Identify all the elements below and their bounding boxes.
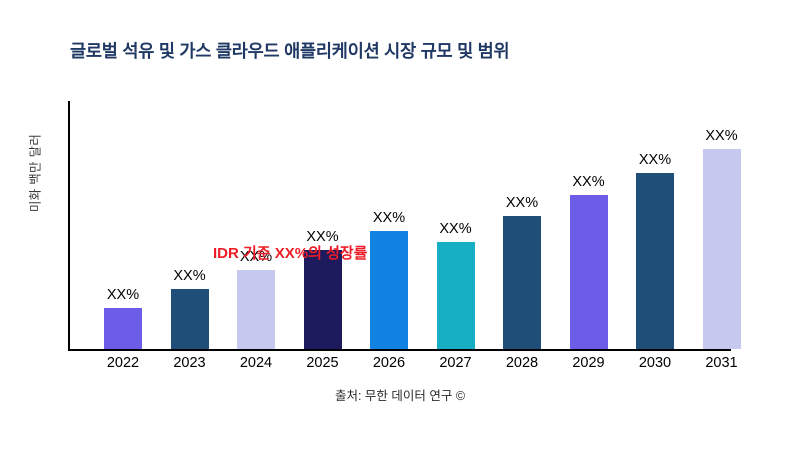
x-tick-2028: 2028 [506,355,538,371]
bar-2029[interactable] [570,195,608,349]
bar-2030[interactable] [636,173,674,349]
y-axis-label: 미화 백만 달러 [25,134,44,212]
bar-group-2028: XX% [489,101,555,351]
bar-value-label-2029: XX% [572,174,604,190]
x-tick-2023: 2023 [173,355,205,371]
bar-2031[interactable] [703,149,741,349]
bar-group-2031: XX% [689,101,755,351]
x-tick-2027: 2027 [439,355,471,371]
bar-2026[interactable] [370,231,408,349]
bar-group-2023: XX% [157,101,223,351]
bar-value-label-2028: XX% [506,195,538,211]
bar-value-label-2022: XX% [107,287,139,303]
bar-2028[interactable] [503,216,541,349]
bar-group-2026: XX% [356,101,422,351]
bar-value-label-2026: XX% [373,210,405,226]
bar-value-label-2030: XX% [639,152,671,168]
x-tick-2026: 2026 [373,355,405,371]
bar-group-2022: XX% [90,101,156,351]
bar-2023[interactable] [171,289,209,349]
y-axis-line [68,101,70,351]
bar-group-2029: XX% [556,101,622,351]
bar-2025[interactable] [304,250,342,349]
x-tick-2030: 2030 [639,355,671,371]
plot-area: XX%XX%XX%XX%XX%XX%XX%XX%XX%XX% IDR 기준 XX… [68,101,780,351]
bar-group-2027: XX% [423,101,489,351]
growth-rate-annotation: IDR 기준 XX%의 성장률 [213,242,367,263]
y-axis-label-container: 미화 백만 달러 [14,118,54,228]
x-axis-tick-labels: 2022202320242025202620272028202920302031 [68,355,780,377]
x-tick-2029: 2029 [572,355,604,371]
bar-2027[interactable] [437,242,475,349]
bar-chart: 글로벌 석유 및 가스 클라우드 애플리케이션 시장 규모 및 범위 미화 백만… [0,0,800,450]
bar-value-label-2031: XX% [705,128,737,144]
bar-group-2025: XX% [290,101,356,351]
bar-value-label-2027: XX% [439,221,471,237]
x-tick-2031: 2031 [705,355,737,371]
bar-2022[interactable] [104,308,142,349]
bar-value-label-2023: XX% [173,268,205,284]
x-tick-2022: 2022 [107,355,139,371]
x-tick-2024: 2024 [240,355,272,371]
bar-group-2030: XX% [622,101,688,351]
x-tick-2025: 2025 [306,355,338,371]
bar-group-2024: XX% [223,101,289,351]
bar-2024[interactable] [237,270,275,349]
source-caption: 출처: 무한 데이터 연구 © [0,385,800,404]
chart-title: 글로벌 석유 및 가스 클라우드 애플리케이션 시장 규모 및 범위 [70,38,770,63]
